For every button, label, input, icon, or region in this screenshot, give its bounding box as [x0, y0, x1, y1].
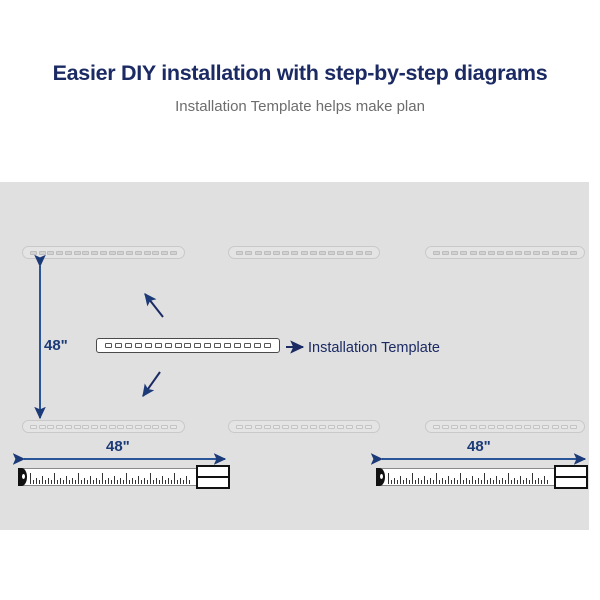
rail-dash	[245, 425, 252, 429]
tape-tick	[430, 478, 431, 484]
rail-dash	[552, 425, 559, 429]
tape-tick	[123, 480, 124, 484]
template-slot	[145, 343, 152, 348]
template-slot	[244, 343, 251, 348]
rail-dash	[273, 251, 280, 255]
rail-dash	[30, 425, 37, 429]
tape-tick	[87, 480, 88, 484]
tape-tick	[532, 473, 533, 484]
tape-tick	[102, 473, 103, 484]
tape-tick	[541, 480, 542, 484]
tape-measure-right	[376, 466, 588, 488]
tape-case-line	[198, 476, 228, 478]
tape-tick	[421, 480, 422, 484]
rail-dash	[39, 251, 46, 255]
tape-tick	[406, 478, 407, 484]
rail-dash	[152, 251, 159, 255]
tape-tick	[84, 478, 85, 484]
rail-dash	[470, 251, 477, 255]
rail-dash	[552, 251, 559, 255]
tape-tick	[412, 473, 413, 484]
template-slot	[204, 343, 211, 348]
template-slot	[165, 343, 172, 348]
rail-dash	[497, 251, 504, 255]
rail-dash	[433, 251, 440, 255]
top-left-rail	[22, 246, 185, 259]
rail-dash	[264, 251, 271, 255]
tape-tick	[147, 480, 148, 484]
bottom-right-rail	[425, 420, 585, 433]
tape-case-line	[556, 476, 586, 478]
rail-dash	[497, 425, 504, 429]
tape-tick	[484, 473, 485, 484]
tape-tick	[388, 473, 389, 484]
tape-tick	[126, 473, 127, 484]
rail-dash	[255, 251, 262, 255]
tape-tick	[418, 478, 419, 484]
tape-tick	[180, 478, 181, 484]
tape-tick	[427, 480, 428, 484]
rail-dash	[236, 425, 243, 429]
rail-dash	[91, 251, 98, 255]
tape-tick	[451, 480, 452, 484]
template-slot	[135, 343, 142, 348]
tape-right-dimension-label: 48"	[467, 438, 491, 455]
tape-tick	[168, 478, 169, 484]
tape-tick	[400, 476, 401, 484]
rail-dash	[170, 425, 177, 429]
rail-dash	[126, 251, 133, 255]
tape-tick	[36, 478, 37, 484]
tape-tick	[189, 480, 190, 484]
tape-tick	[111, 480, 112, 484]
rail-dash	[82, 425, 89, 429]
tape-tick	[60, 478, 61, 484]
rail-dash	[236, 251, 243, 255]
rail-dash	[30, 251, 37, 255]
rail-dash	[301, 251, 308, 255]
rail-dash	[515, 425, 522, 429]
tape-tick	[69, 480, 70, 484]
tape-tick	[51, 480, 52, 484]
rail-dash	[291, 425, 298, 429]
tape-tick	[93, 480, 94, 484]
tape-tick	[165, 480, 166, 484]
rail-dash	[100, 251, 107, 255]
rail-dash	[346, 425, 353, 429]
tape-tick	[105, 480, 106, 484]
tape-tick	[490, 478, 491, 484]
rail-dash	[126, 425, 133, 429]
rail-dash	[117, 425, 124, 429]
template-slot	[234, 343, 241, 348]
rail-dash	[291, 251, 298, 255]
tape-tick	[78, 473, 79, 484]
top-right-rail	[425, 246, 585, 259]
tape-tick	[463, 480, 464, 484]
rail-dash	[337, 251, 344, 255]
rail-dash	[135, 425, 142, 429]
tape-tick	[502, 478, 503, 484]
page-title: Easier DIY installation with step-by-ste…	[0, 60, 600, 86]
tape-tick	[508, 473, 509, 484]
tape-tick	[162, 476, 163, 484]
tape-tick	[496, 476, 497, 484]
rail-dash	[273, 425, 280, 429]
rail-dash	[365, 251, 372, 255]
template-slot	[264, 343, 271, 348]
tape-tick	[511, 480, 512, 484]
rail-dash	[39, 425, 46, 429]
tape-tick	[99, 480, 100, 484]
tape-tick	[90, 476, 91, 484]
rail-dash	[161, 251, 168, 255]
tape-tick	[114, 476, 115, 484]
tape-tick	[415, 480, 416, 484]
tape-tick	[442, 478, 443, 484]
tape-tick	[460, 473, 461, 484]
tape-measure-left	[18, 466, 230, 488]
tape-tick	[409, 480, 410, 484]
tape-tick	[499, 480, 500, 484]
tape-tick	[394, 478, 395, 484]
rail-dash	[524, 425, 531, 429]
tape-tick	[436, 473, 437, 484]
tape-tick	[523, 480, 524, 484]
tape-tick	[183, 480, 184, 484]
rail-dash	[144, 251, 151, 255]
bottom-left-rail	[22, 420, 185, 433]
tape-tick	[174, 473, 175, 484]
tape-tick	[517, 480, 518, 484]
tape-hook-pin	[22, 474, 25, 479]
vertical-dimension-label: 48"	[44, 337, 68, 354]
tape-tick	[469, 480, 470, 484]
top-center-rail	[228, 246, 380, 259]
rail-dash	[542, 425, 549, 429]
rail-dash	[74, 425, 81, 429]
rail-dash	[117, 251, 124, 255]
rail-dash	[524, 251, 531, 255]
tape-tick	[30, 473, 31, 484]
tape-tick	[153, 480, 154, 484]
installation-template-label: Installation Template	[308, 340, 440, 356]
tape-tick	[75, 480, 76, 484]
tape-tick	[472, 476, 473, 484]
tape-tick	[177, 480, 178, 484]
rail-dash	[451, 425, 458, 429]
tape-tick	[445, 480, 446, 484]
rail-dash	[74, 251, 81, 255]
rail-dash	[570, 251, 577, 255]
tape-hook-pin	[380, 474, 383, 479]
tape-tick	[63, 480, 64, 484]
tape-tick	[72, 478, 73, 484]
tape-tick	[424, 476, 425, 484]
tape-tick	[544, 476, 545, 484]
rail-dash	[152, 425, 159, 429]
rail-dash	[488, 425, 495, 429]
tape-tick	[120, 478, 121, 484]
rail-dash	[82, 251, 89, 255]
rail-dash	[319, 251, 326, 255]
rail-dash	[533, 425, 540, 429]
tape-tick	[481, 480, 482, 484]
template-slot	[214, 343, 221, 348]
tape-tick	[514, 478, 515, 484]
rail-dash	[65, 425, 72, 429]
tape-tick	[42, 476, 43, 484]
tape-tick	[39, 480, 40, 484]
rail-dash	[47, 425, 54, 429]
tape-tick	[505, 480, 506, 484]
tape-tick	[108, 478, 109, 484]
tape-tick	[454, 478, 455, 484]
tape-tick	[547, 480, 548, 484]
rail-dash	[533, 251, 540, 255]
tape-tick	[466, 478, 467, 484]
rail-dash	[109, 251, 116, 255]
tape-tick	[66, 476, 67, 484]
rail-dash	[170, 251, 177, 255]
tape-tick	[129, 480, 130, 484]
tape-tick	[403, 480, 404, 484]
tape-ticks	[388, 470, 548, 484]
tape-tick	[478, 478, 479, 484]
rail-dash	[488, 251, 495, 255]
template-slot	[105, 343, 112, 348]
tape-tick	[493, 480, 494, 484]
rail-dash	[144, 425, 151, 429]
tape-tick	[48, 478, 49, 484]
rail-dash	[460, 425, 467, 429]
rail-dash	[506, 425, 513, 429]
rail-dash	[310, 425, 317, 429]
rail-dash	[433, 425, 440, 429]
tape-tick	[433, 480, 434, 484]
rail-dash	[337, 425, 344, 429]
template-slot	[115, 343, 122, 348]
template-slot	[194, 343, 201, 348]
rail-dash	[319, 425, 326, 429]
tape-tick	[159, 480, 160, 484]
rail-dash	[135, 251, 142, 255]
rail-dash	[65, 251, 72, 255]
tape-tick	[141, 480, 142, 484]
rail-dash	[264, 425, 271, 429]
rail-dash	[255, 425, 262, 429]
rail-dash	[56, 251, 63, 255]
screenshot-root: Easier DIY installation with step-by-ste…	[0, 0, 600, 600]
tape-tick	[538, 478, 539, 484]
tape-tick	[475, 480, 476, 484]
rail-dash	[282, 425, 289, 429]
rail-dash	[100, 425, 107, 429]
template-slot	[125, 343, 132, 348]
tape-tick	[57, 480, 58, 484]
bottom-center-rail	[228, 420, 380, 433]
tape-tick	[132, 478, 133, 484]
rail-dash	[470, 425, 477, 429]
tape-tick	[391, 480, 392, 484]
tape-tick	[171, 480, 172, 484]
rail-dash	[56, 425, 63, 429]
rail-dash	[356, 425, 363, 429]
rail-dash	[47, 251, 54, 255]
tape-tick	[529, 480, 530, 484]
tape-tick	[135, 480, 136, 484]
rail-dash	[310, 251, 317, 255]
rail-dash	[328, 251, 335, 255]
tape-tick	[117, 480, 118, 484]
rail-dash	[515, 251, 522, 255]
rail-dash	[91, 425, 98, 429]
tape-tick	[54, 473, 55, 484]
rail-dash	[460, 251, 467, 255]
tape-tick	[186, 476, 187, 484]
rail-dash	[506, 251, 513, 255]
tape-tick	[33, 480, 34, 484]
template-slot	[175, 343, 182, 348]
tape-tick	[397, 480, 398, 484]
rail-dash	[442, 251, 449, 255]
tape-tick	[520, 476, 521, 484]
rail-dash	[479, 425, 486, 429]
template-slot	[254, 343, 261, 348]
rail-dash	[561, 425, 568, 429]
rail-dash	[356, 251, 363, 255]
rail-dash	[245, 251, 252, 255]
template-slot	[155, 343, 162, 348]
tape-tick	[526, 478, 527, 484]
tape-tick	[144, 478, 145, 484]
rail-dash	[570, 425, 577, 429]
rail-dash	[451, 251, 458, 255]
rail-dash	[442, 425, 449, 429]
tape-tick	[45, 480, 46, 484]
tape-tick	[487, 480, 488, 484]
tape-tick	[448, 476, 449, 484]
rail-dash	[346, 251, 353, 255]
tape-tick	[81, 480, 82, 484]
tape-tick	[439, 480, 440, 484]
template-slot	[224, 343, 231, 348]
tape-ticks	[30, 470, 190, 484]
tape-tick	[96, 478, 97, 484]
rail-dash	[161, 425, 168, 429]
rail-dash	[301, 425, 308, 429]
tape-tick	[138, 476, 139, 484]
page-subtitle: Installation Template helps make plan	[0, 96, 600, 118]
rail-dash	[328, 425, 335, 429]
rail-dash	[365, 425, 372, 429]
template-slot	[184, 343, 191, 348]
tape-tick	[457, 480, 458, 484]
rail-dash	[109, 425, 116, 429]
installation-template-strip	[96, 338, 280, 353]
rail-dash	[479, 251, 486, 255]
rail-dash	[561, 251, 568, 255]
tape-tick	[535, 480, 536, 484]
rail-dash	[282, 251, 289, 255]
tape-left-dimension-label: 48"	[106, 438, 130, 455]
tape-tick	[150, 473, 151, 484]
tape-tick	[156, 478, 157, 484]
rail-dash	[542, 251, 549, 255]
